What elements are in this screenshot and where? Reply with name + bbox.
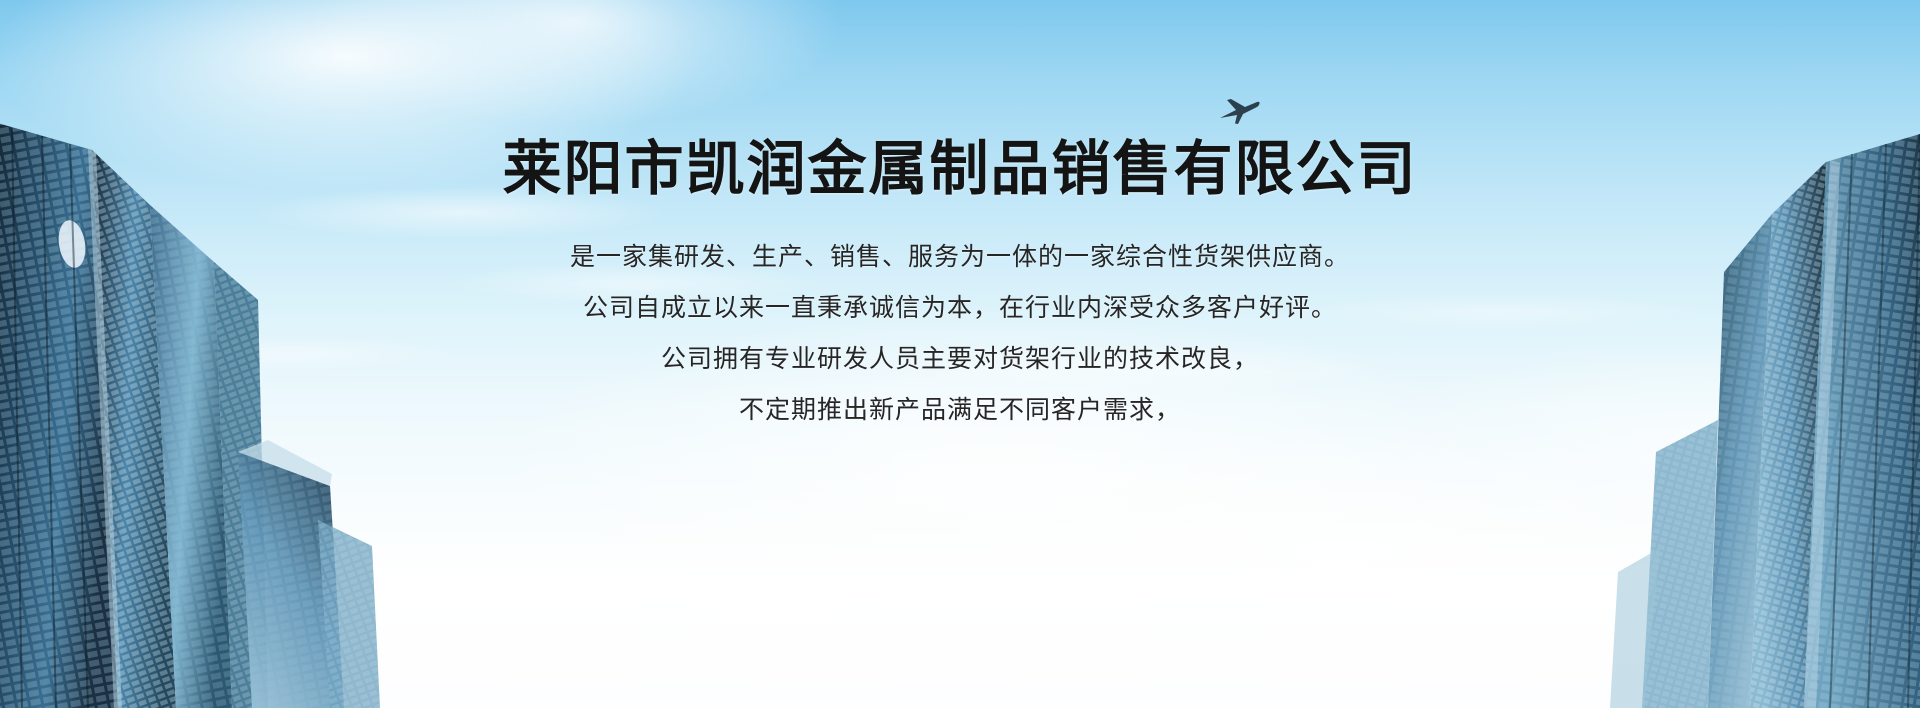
description-line: 不定期推出新产品满足不同客户需求， <box>570 398 1350 423</box>
page-title: 莱阳市凯润金属制品销售有限公司 <box>502 138 1417 201</box>
company-description: 是一家集研发、生产、销售、服务为一体的一家综合性货架供应商。 公司自成立以来一直… <box>570 245 1350 423</box>
company-hero-banner: 莱阳市凯润金属制品销售有限公司 是一家集研发、生产、销售、服务为一体的一家综合性… <box>0 0 1920 708</box>
description-line: 公司拥有专业研发人员主要对货架行业的技术改良， <box>570 347 1350 372</box>
description-line: 是一家集研发、生产、销售、服务为一体的一家综合性货架供应商。 <box>570 245 1350 270</box>
description-line: 公司自成立以来一直秉承诚信为本，在行业内深受众多客户好评。 <box>570 296 1350 321</box>
banner-text-block: 莱阳市凯润金属制品销售有限公司 是一家集研发、生产、销售、服务为一体的一家综合性… <box>0 0 1920 708</box>
